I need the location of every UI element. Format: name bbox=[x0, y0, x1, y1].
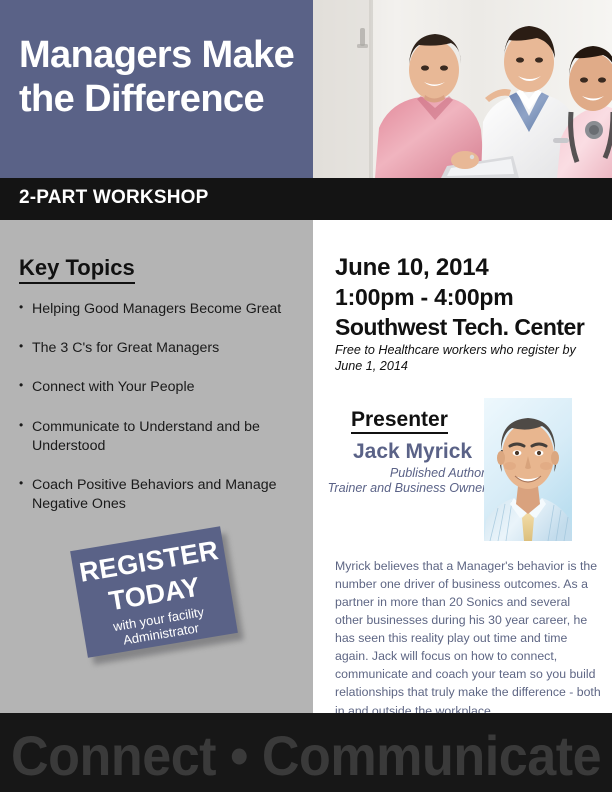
register-badge[interactable]: REGISTER TODAY with your facility Admini… bbox=[76, 536, 246, 662]
flyer-page: Managers Make the Difference bbox=[0, 0, 612, 792]
key-topics-heading: Key Topics bbox=[19, 255, 135, 284]
workshop-banner: 2-PART WORKSHOP bbox=[0, 178, 612, 220]
event-details-column: June 10, 2014 1:00pm - 4:00pm Southwest … bbox=[313, 220, 612, 713]
page-title-line-1: Managers Make bbox=[19, 33, 304, 77]
presenter-headshot-graphic bbox=[484, 398, 572, 541]
list-item: Helping Good Managers Become Great bbox=[19, 300, 297, 319]
key-topics-list: Helping Good Managers Become Great The 3… bbox=[19, 300, 297, 534]
header-title-block: Managers Make the Difference bbox=[0, 0, 313, 178]
list-item: Coach Positive Behaviors and Manage Nega… bbox=[19, 476, 297, 514]
footer-banner: Connect • Communicate • Coach bbox=[0, 713, 612, 792]
healthcare-team-photo bbox=[313, 0, 612, 178]
presenter-name: Jack Myrick bbox=[353, 440, 472, 464]
presenter-bio: Myrick believes that a Manager's behavio… bbox=[335, 557, 601, 720]
list-item: Connect with Your People bbox=[19, 378, 297, 397]
page-title: Managers Make the Difference bbox=[19, 33, 304, 121]
list-item: The 3 C's for Great Managers bbox=[19, 339, 297, 358]
event-date: June 10, 2014 bbox=[335, 254, 489, 282]
event-location: Southwest Tech. Center bbox=[335, 314, 584, 341]
event-pricing-note: Free to Healthcare workers who register … bbox=[335, 342, 593, 374]
presenter-heading: Presenter bbox=[351, 408, 448, 434]
workshop-banner-label: 2-PART WORKSHOP bbox=[19, 187, 208, 209]
healthcare-team-photo-graphic bbox=[313, 0, 612, 178]
presenter-headshot bbox=[484, 398, 572, 541]
list-item: Communicate to Understand and be Underst… bbox=[19, 418, 297, 456]
footer-banner-label: Connect • Communicate • Coach bbox=[11, 723, 562, 788]
page-title-line-2: the Difference bbox=[19, 77, 304, 121]
event-time: 1:00pm - 4:00pm bbox=[335, 284, 514, 311]
presenter-role-line-2: Trainer and Business Owner bbox=[327, 481, 487, 495]
